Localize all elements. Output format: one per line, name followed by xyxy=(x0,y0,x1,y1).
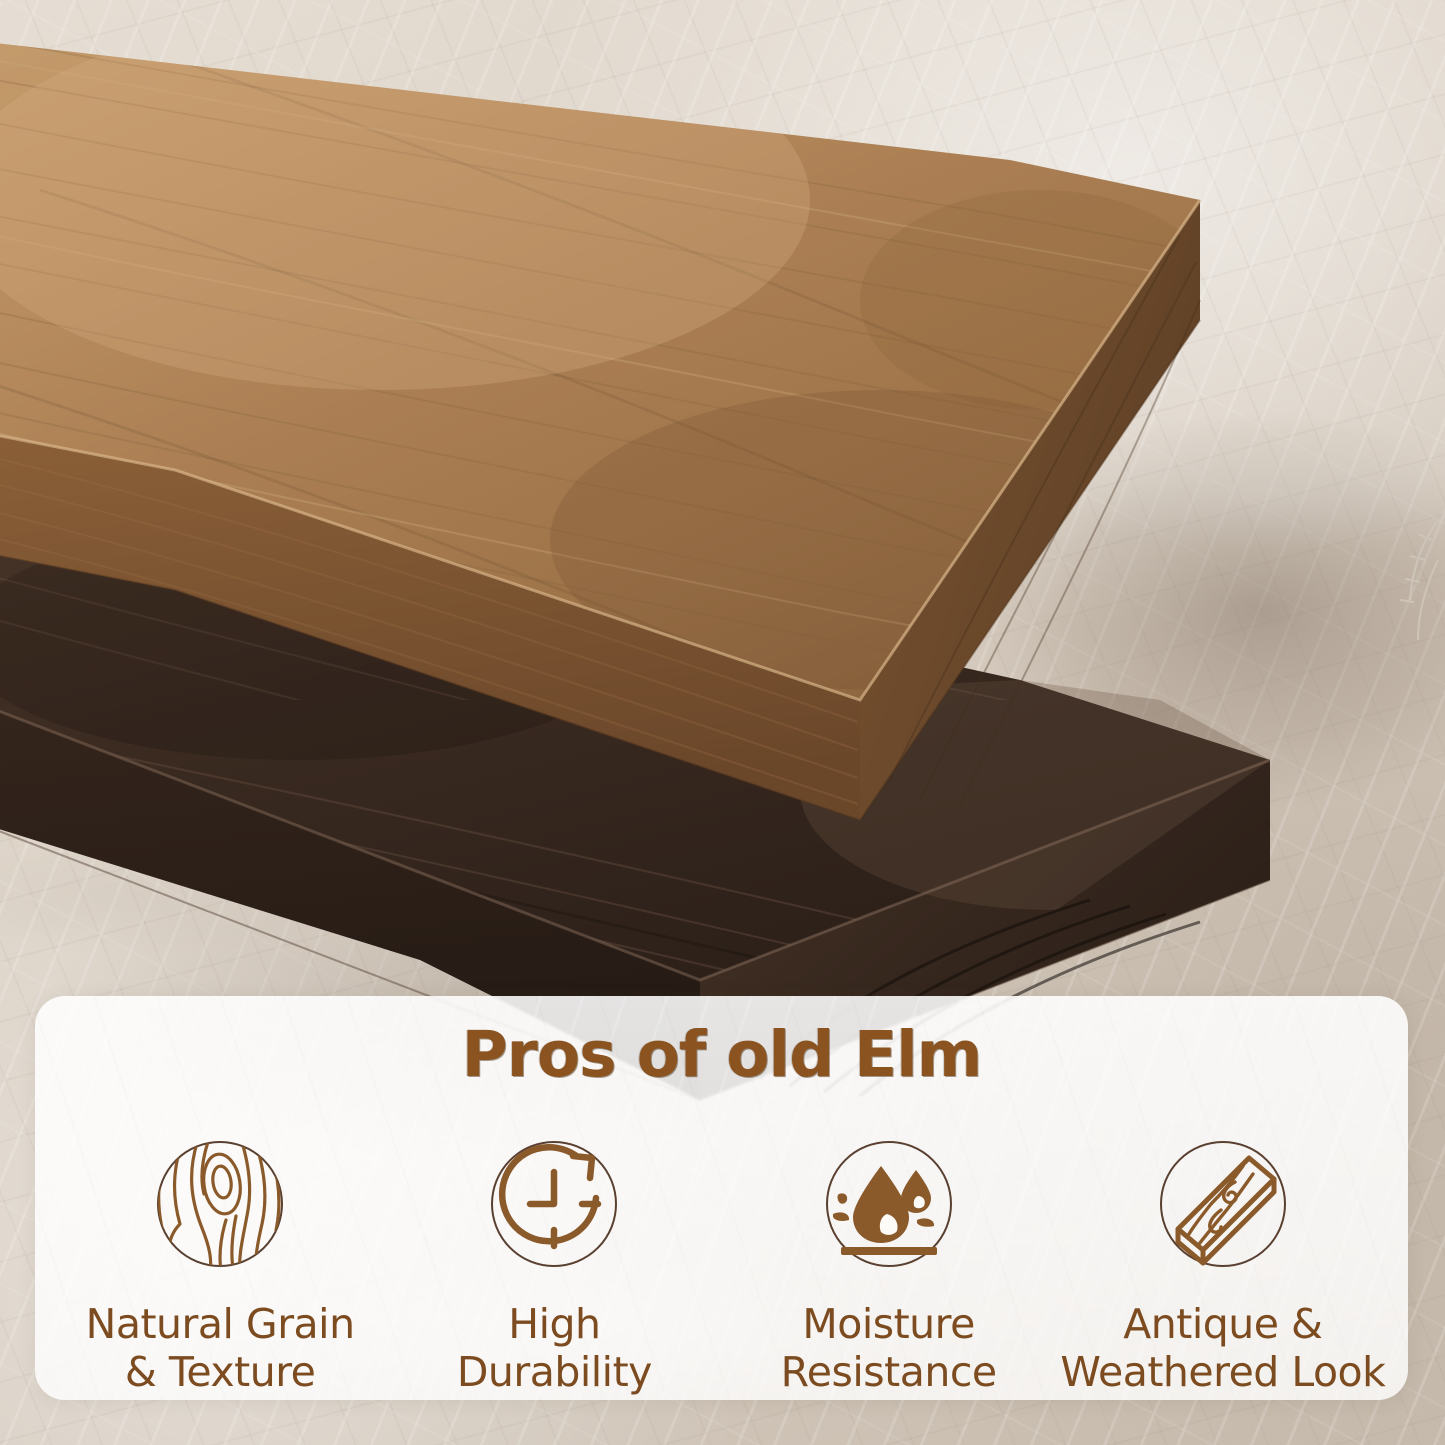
feature-antique-weathered: Antique & Weathered Look xyxy=(1058,1124,1388,1397)
panel-title: Pros of old Elm xyxy=(35,1018,1408,1091)
feature-natural-grain: Natural Grain & Texture xyxy=(55,1124,385,1397)
feature-label: Moisture Resistance xyxy=(781,1300,997,1397)
water-droplet-icon xyxy=(809,1124,969,1284)
feature-label: Natural Grain & Texture xyxy=(86,1300,355,1397)
clock-rotate-icon xyxy=(474,1124,634,1284)
feature-list: Natural Grain & Texture xyxy=(53,1124,1390,1397)
wood-plank-icon xyxy=(1143,1124,1303,1284)
product-feature-image: Pros of old Elm xyxy=(0,0,1445,1445)
feature-moisture-resistance: Moisture Resistance xyxy=(724,1124,1054,1397)
wood-grain-circle-icon xyxy=(140,1124,300,1284)
feature-high-durability: High Durability xyxy=(389,1124,719,1397)
feature-label: High Durability xyxy=(457,1300,652,1397)
feature-label: Antique & Weathered Look xyxy=(1060,1300,1385,1397)
feature-panel: Pros of old Elm xyxy=(35,996,1408,1400)
